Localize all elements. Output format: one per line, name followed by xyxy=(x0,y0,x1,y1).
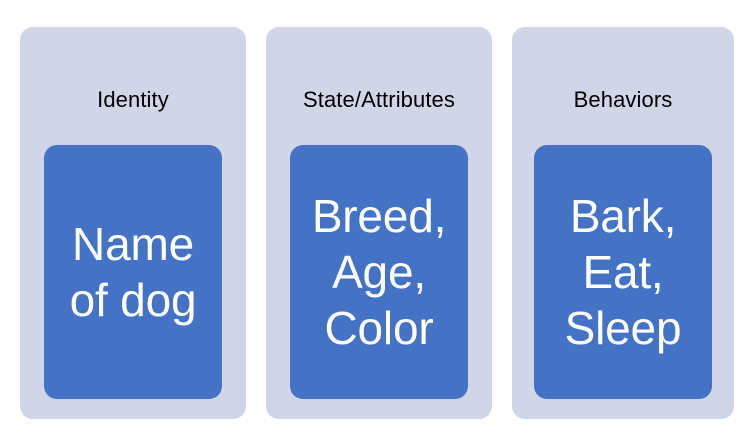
card-behaviors[interactable]: Bark, Eat, Sleep xyxy=(534,145,712,399)
card-behaviors-line-1: Bark, xyxy=(538,188,708,244)
card-identity-line-1: Name xyxy=(48,216,218,272)
card-state-attributes[interactable]: Breed, Age, Color xyxy=(290,145,468,399)
card-state-attributes-line-2: Age, xyxy=(294,244,464,300)
card-identity-text: Name of dog xyxy=(44,216,222,328)
panel-identity-heading: Identity xyxy=(20,85,246,115)
card-behaviors-line-3: Sleep xyxy=(538,300,708,356)
panel-identity[interactable]: Identity Name of dog xyxy=(20,27,246,419)
card-state-attributes-text: Breed, Age, Color xyxy=(290,188,468,356)
panel-state-attributes[interactable]: State/Attributes Breed, Age, Color xyxy=(266,27,492,419)
card-behaviors-text: Bark, Eat, Sleep xyxy=(534,188,712,356)
panel-state-attributes-heading: State/Attributes xyxy=(266,85,492,115)
card-identity[interactable]: Name of dog xyxy=(44,145,222,399)
diagram-canvas: Identity Name of dog State/Attributes Br… xyxy=(0,0,754,435)
panel-behaviors-heading: Behaviors xyxy=(512,85,734,115)
card-behaviors-line-2: Eat, xyxy=(538,244,708,300)
card-state-attributes-line-1: Breed, xyxy=(294,188,464,244)
card-state-attributes-line-3: Color xyxy=(294,300,464,356)
card-identity-line-2: of dog xyxy=(48,272,218,328)
panel-behaviors[interactable]: Behaviors Bark, Eat, Sleep xyxy=(512,27,734,419)
